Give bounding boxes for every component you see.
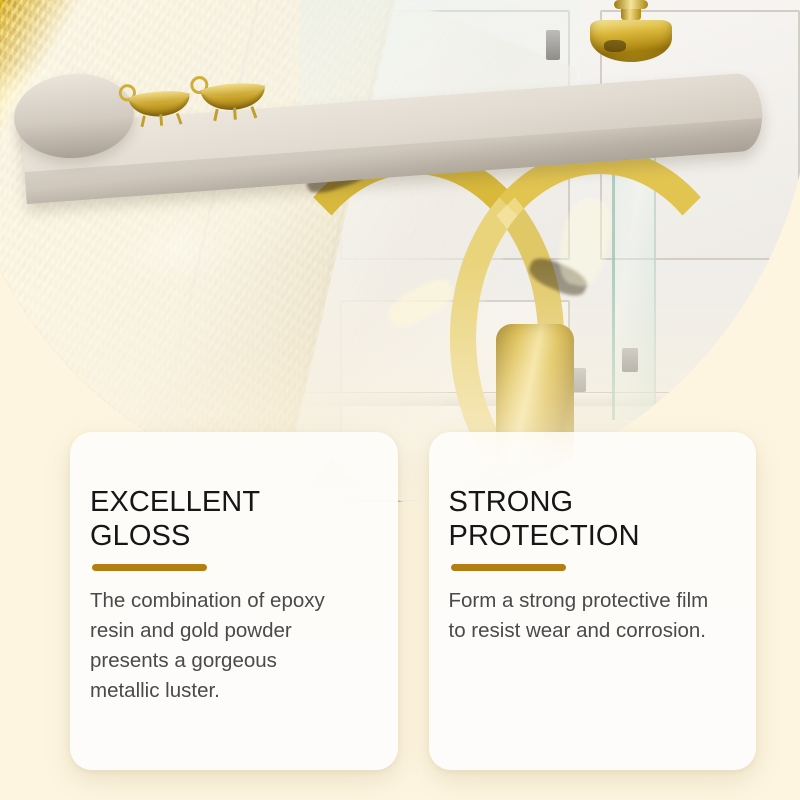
card-title: EXCELLENT GLOSS	[90, 486, 366, 553]
feature-card-list: EXCELLENT GLOSS The combination of epoxy…	[70, 432, 756, 770]
trophy-knob	[614, 0, 648, 9]
accent-bar	[451, 564, 566, 571]
trophy-shadow	[604, 40, 626, 52]
accent-bar	[92, 564, 207, 571]
trophy-foot	[590, 20, 672, 62]
card-body-text: Form a strong protective film to resist …	[449, 586, 709, 646]
card-title: STRONG PROTECTION	[449, 486, 725, 553]
product-feature-page: EXCELLENT GLOSS The combination of epoxy…	[0, 0, 800, 800]
feature-card-strong-protection[interactable]: STRONG PROTECTION Form a strong protecti…	[429, 432, 757, 770]
feature-card-excellent-gloss[interactable]: EXCELLENT GLOSS The combination of epoxy…	[70, 432, 398, 770]
card-body-text: The combination of epoxy resin and gold …	[90, 586, 350, 706]
glass-panel-foot	[546, 30, 560, 60]
gold-trophy-lamp-base	[588, 0, 674, 68]
